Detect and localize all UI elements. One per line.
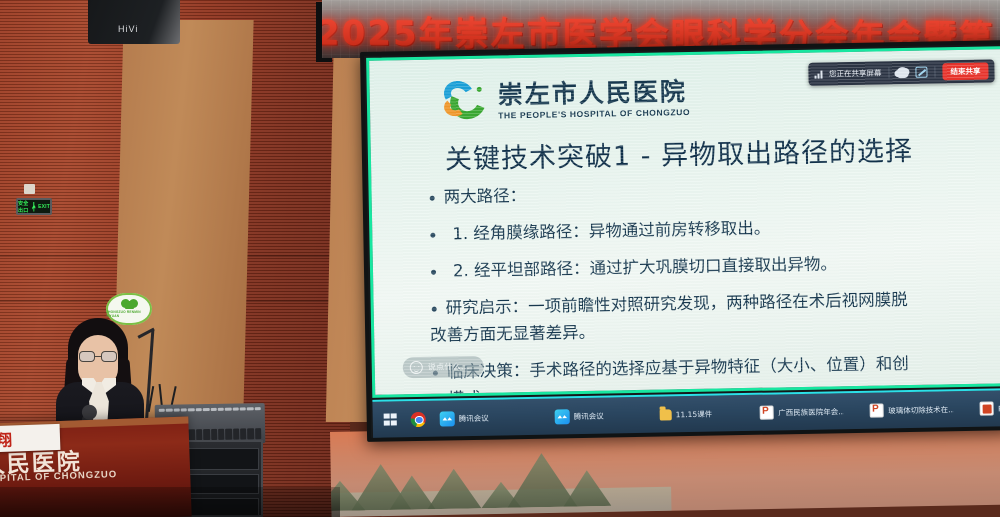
tencent-meeting-icon[interactable] xyxy=(555,409,570,424)
heart-icon xyxy=(125,301,134,309)
annotate-icon[interactable] xyxy=(915,67,927,78)
powerpoint-icon[interactable] xyxy=(760,405,774,419)
divider xyxy=(888,67,889,78)
powerpoint-icon[interactable] xyxy=(980,401,994,415)
screen-share-toolbar[interactable]: 您正在共享屏幕 结束共享 xyxy=(808,59,995,85)
emergency-exit-sign: 安全出口 EXIT xyxy=(16,198,52,215)
taskbar-item-label: 11.15课件 xyxy=(676,408,713,420)
list-item: 2. 经平坦部路径：通过扩大巩膜切口直接取出异物。 xyxy=(431,249,1000,283)
signal-icon xyxy=(814,70,822,79)
slide-title: 关键技术突破1 - 异物取出路径的选择 xyxy=(445,127,991,176)
hivi-speaker-label: HiVi xyxy=(118,24,138,34)
taskbar-item-label: 广西民族医院年会... xyxy=(778,406,844,418)
smiley-icon[interactable] xyxy=(410,361,423,374)
exit-sign-label-en: EXIT xyxy=(38,204,50,210)
floor-shadow xyxy=(0,487,340,517)
taskbar-item-tencent-meeting-1[interactable]: 腾讯会议 xyxy=(432,402,496,435)
bullet-text: 两大路径： xyxy=(443,184,526,209)
chrome-icon[interactable] xyxy=(411,411,426,426)
taskbar-item-tencent-meeting-2[interactable]: 腾讯会议 xyxy=(547,399,611,432)
bullet-icon xyxy=(430,233,435,238)
hospital-logo-bird-icon xyxy=(442,81,489,124)
start-button[interactable] xyxy=(376,403,404,435)
powerpoint-icon[interactable] xyxy=(870,403,884,417)
share-status-label: 您正在共享屏幕 xyxy=(829,67,882,79)
taskbar-item-ppt-1[interactable]: 广西民族医院年会... xyxy=(753,395,852,429)
mixer-knobs xyxy=(159,407,261,412)
taskbar-item-ppt-2[interactable]: 玻璃体切除技术在... xyxy=(863,393,962,427)
hivi-speaker: HiVi xyxy=(88,0,180,44)
taskbar-item-label: 腾讯会议 xyxy=(459,412,489,424)
bullet-icon xyxy=(432,306,437,311)
projection-screen: 崇左市人民医院 THE PEOPLE'S HOSPITAL OF CHONGZU… xyxy=(360,40,1000,442)
chat-input[interactable]: 说点什么... xyxy=(403,356,484,378)
conference-hall-photo: HiVi 安全出口 EXIT ZHONGZUO RENMIN YIYUAN 20… xyxy=(0,0,1000,517)
divider xyxy=(934,66,935,77)
folder-icon[interactable] xyxy=(660,409,672,420)
chat-input-placeholder: 说点什么... xyxy=(428,361,470,373)
bullet-text: 2. 经平坦部路径：通过扩大巩膜切口直接取出异物。 xyxy=(445,252,837,283)
presentation-slide: 崇左市人民医院 THE PEOPLE'S HOSPITAL OF CHONGZU… xyxy=(369,49,1000,395)
list-item: 1. 经角膜缘路径：异物通过前房转移取出。 xyxy=(430,212,1000,246)
bullet-text: 改善方面无显著差异。 xyxy=(430,320,595,347)
wall-outlet xyxy=(24,184,35,194)
taskbar-item-courseware-folder[interactable]: 11.15课件 xyxy=(652,397,719,430)
bullet-icon xyxy=(431,269,436,274)
cloud-record-icon[interactable] xyxy=(896,67,908,78)
wall-emblem-label: ZHONGZUO RENMIN YIYUAN xyxy=(106,310,152,318)
taskbar-item-chrome[interactable] xyxy=(403,403,433,436)
tencent-meeting-icon[interactable] xyxy=(440,411,455,426)
nameplate-text: 翔 xyxy=(0,427,12,452)
end-share-button[interactable]: 结束共享 xyxy=(942,62,988,80)
bullet-text: 1. 经角膜缘路径：异物通过前房转移取出。 xyxy=(444,216,770,246)
bullet-icon xyxy=(430,196,435,201)
hospital-name-cn: 崇左市人民医院 xyxy=(498,79,690,108)
taskbar-item-label: 玻璃体切除技术在... xyxy=(888,404,954,416)
glasses-icon xyxy=(78,351,118,362)
mural-peak xyxy=(506,452,577,507)
speaker-nameplate: 翔 xyxy=(0,424,60,452)
taskbar-item-label: 腾讯会议 xyxy=(574,410,604,422)
hospital-logo: 崇左市人民医院 THE PEOPLE'S HOSPITAL OF CHONGZU… xyxy=(442,77,691,124)
running-man-icon xyxy=(32,202,36,212)
windows-start-icon[interactable] xyxy=(384,413,397,426)
mural-peak xyxy=(427,468,482,509)
slide-bullet-list: 两大路径： 1. 经角膜缘路径：异物通过前房转移取出。 2. 经平坦部路径：通过… xyxy=(429,175,1000,394)
exit-sign-label-cn: 安全出口 xyxy=(18,200,30,214)
hospital-name-en: THE PEOPLE'S HOSPITAL OF CHONGZUO xyxy=(498,107,690,121)
list-item: 两大路径： xyxy=(429,175,1000,209)
taskbar-item-ppt-3[interactable]: PowerPoint 幻灯... xyxy=(973,391,1000,425)
